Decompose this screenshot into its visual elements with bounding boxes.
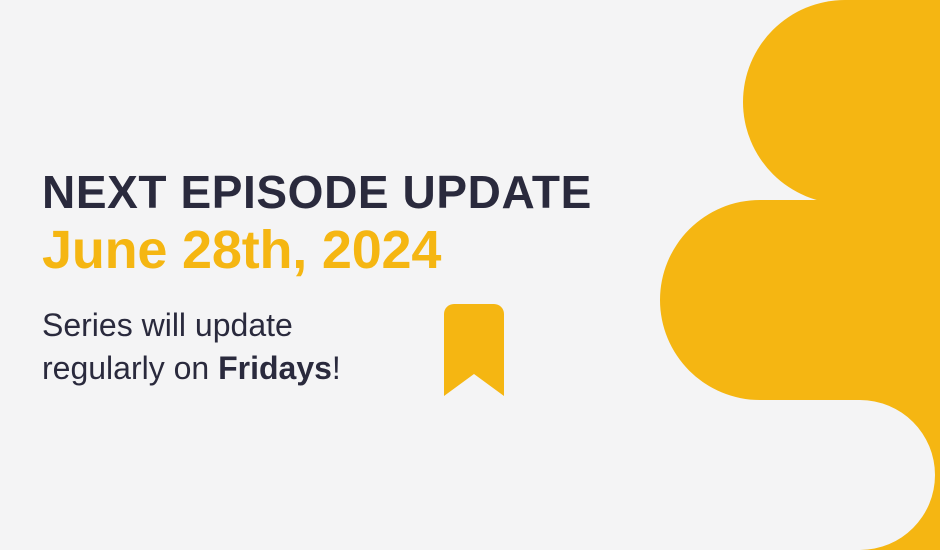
- subtitle-emphasis: Fridays: [218, 350, 332, 386]
- subtitle-trail: !: [332, 350, 341, 386]
- bookmark-icon: [444, 304, 504, 396]
- page-title: NEXT EPISODE UPDATE: [42, 168, 682, 218]
- subtitle-text: Series will update regularly on Fridays!: [42, 304, 422, 388]
- subtitle-row: Series will update regularly on Fridays!: [42, 298, 682, 396]
- episode-date: June 28th, 2024: [42, 218, 682, 284]
- banner-content: NEXT EPISODE UPDATE June 28th, 2024 Seri…: [42, 168, 682, 396]
- wave-decoration-shape: [640, 0, 940, 550]
- next-episode-update-banner: NEXT EPISODE UPDATE June 28th, 2024 Seri…: [0, 0, 940, 550]
